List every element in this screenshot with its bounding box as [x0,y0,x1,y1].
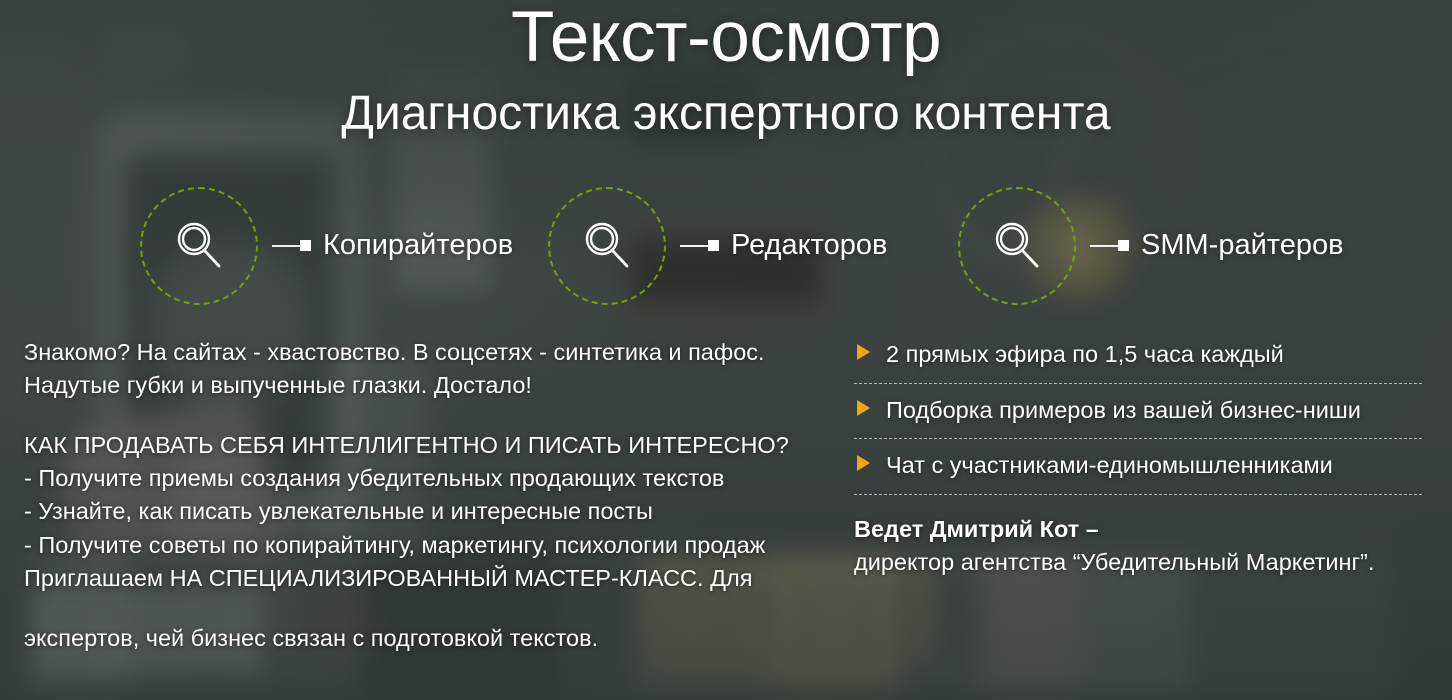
invite-line-1: Приглашаем НА СПЕЦИАЛИЗИРОВАННЫЙ МАСТЕР-… [24,562,824,595]
audience-item-copywriters[interactable]: Копирайтеров [140,183,513,308]
feature-label: 2 прямых эфира по 1,5 часа каждый [886,339,1284,370]
dashed-circle-frame [548,187,666,305]
slide-content: Текст-осмотр Диагностика экспертного кон… [0,0,1452,700]
slide-canvas: ATM $ Текст-осмотр Диагностика экспертно… [0,0,1452,700]
connector-stroke [680,245,708,247]
page-title: Текст-осмотр [0,0,1452,78]
question-heading: КАК ПРОДАВАТЬ СЕБЯ ИНТЕЛЛИГЕНТНО И ПИСАТ… [24,429,824,462]
audience-item-editors[interactable]: Редакторов [548,183,887,308]
page-subtitle: Диагностика экспертного контента [0,86,1452,141]
audience-item-label: Редакторов [731,227,887,264]
triangle-bullet-icon [857,400,870,416]
host-role: директор агентства “Убедительный Маркети… [854,549,1374,575]
audience-item-smm-writers[interactable]: SMM-райтеров [958,183,1344,308]
dashed-circle-frame [958,187,1076,305]
triangle-bullet-icon [857,455,870,471]
feature-item: Чат с участниками-единомышленниками [854,439,1422,495]
intro-line-1: Знакомо? На сайтах - хвастовство. В соцс… [24,336,824,369]
connector-square-icon [1118,240,1129,251]
connector-line [680,240,719,251]
feature-item: 2 прямых эфира по 1,5 часа каждый [854,337,1422,384]
intro-line-2: Надутые губки и выпученные глазки. Доста… [24,369,824,402]
connector-stroke [272,245,300,247]
connector-square-icon [300,240,311,251]
host-name: Ведет Дмитрий Кот – [854,513,1422,546]
dashed-circle-frame [140,187,258,305]
triangle-bullet-icon [857,344,870,360]
audience-item-label: SMM-райтеров [1141,227,1344,264]
right-feature-column: 2 прямых эфира по 1,5 часа каждый Подбор… [854,337,1422,578]
connector-line [1090,240,1129,251]
benefit-line: - Получите приемы создания убедительных … [24,462,824,495]
audience-row: Копирайтеров Редакторов [0,183,1452,308]
left-text-column: Знакомо? На сайтах - хвастовство. В соцс… [24,336,824,655]
connector-line [272,240,311,251]
magnifier-icon [579,218,635,274]
connector-square-icon [708,240,719,251]
benefit-line: - Получите советы по копирайтингу, марке… [24,529,824,562]
host-info: Ведет Дмитрий Кот – директор агентства “… [854,513,1422,579]
feature-label: Подборка примеров из вашей бизнес-ниши [886,395,1361,426]
audience-item-label: Копирайтеров [323,227,513,264]
magnifier-icon [989,218,1045,274]
benefit-line: - Узнайте, как писать увлекательные и ин… [24,495,824,528]
feature-item: Подборка примеров из вашей бизнес-ниши [854,384,1422,440]
feature-label: Чат с участниками-единомышленниками [886,450,1333,481]
magnifier-icon [171,218,227,274]
connector-stroke [1090,245,1118,247]
invite-line-2: экспертов, чей бизнес связан с подготовк… [24,622,824,655]
